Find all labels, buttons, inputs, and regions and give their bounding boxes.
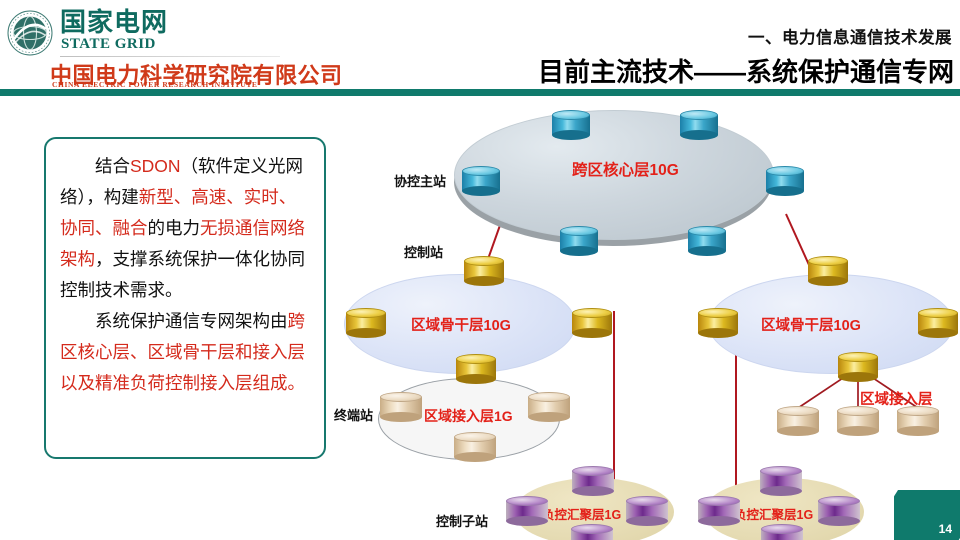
summary-paragraph-1: 结合SDON（软件定义光网络），构建新型、高速、实时、协同、融合的电力无损通信网… (60, 151, 310, 306)
station-label-zhongduan-zhan: 终端站 (334, 405, 373, 424)
agg-right-node-east[interactable] (818, 496, 860, 526)
backbone-right-node-top[interactable] (808, 256, 848, 286)
p1-seg2: SDON (130, 156, 181, 176)
access-right-node-3[interactable] (897, 406, 939, 436)
backbone-right-node-south[interactable] (838, 352, 878, 382)
summary-textbox: 结合SDON（软件定义光网络），构建新型、高速、实时、协同、融合的电力无损通信网… (44, 137, 326, 459)
access-left-label: 区域接入层1G (424, 406, 513, 426)
section-title: 一、电力信息通信技术发展 (748, 24, 952, 48)
aggregation-left-label: 负控汇聚层1G (542, 504, 621, 523)
access-right-node-2[interactable] (837, 406, 879, 436)
aggregation-right-label: 负控汇聚层1G (734, 504, 813, 523)
core-node-1[interactable] (552, 110, 590, 140)
access-right-node-1[interactable] (777, 406, 819, 436)
agg-left-node-top[interactable] (572, 466, 614, 496)
summary-paragraph-2: 系统保护通信专网架构由跨区核心层、区域骨干层和接入层以及精准负荷控制接入层组成。 (60, 306, 310, 399)
agg-right-node-top[interactable] (760, 466, 802, 496)
company-name-en: STATE GRID (61, 36, 156, 53)
agg-right-node-west[interactable] (698, 496, 740, 526)
company-name-cn: 国家电网 (60, 8, 168, 36)
page-title: 目前主流技术——系统保护通信专网 (538, 52, 954, 89)
backbone-left-node-south[interactable] (456, 354, 496, 384)
p1-seg1: 结合 (95, 156, 130, 176)
header-accent-bar (0, 89, 960, 96)
agg-left-node-south[interactable] (571, 524, 613, 540)
station-label-xiekong-zhuzhan: 协控主站 (394, 171, 446, 190)
page-number-corner: 14 (894, 490, 960, 540)
network-architecture-diagram: 跨区核心层10G 区域骨干层10G 区域骨干层10G 区域接入层1G 区域接入层… (336, 96, 960, 540)
core-node-5[interactable] (560, 226, 598, 256)
p2-seg1: 系统保护通信专网架构由 (95, 311, 288, 331)
core-layer-label: 跨区核心层10G (572, 158, 679, 180)
access-left-node-east[interactable] (528, 392, 570, 422)
access-left-node-south[interactable] (454, 432, 496, 462)
backbone-right-node-west[interactable] (698, 308, 738, 338)
station-label-kongzhi-zizhan: 控制子站 (436, 511, 488, 530)
backbone-left-label: 区域骨干层10G (411, 314, 511, 335)
header-divider (60, 56, 280, 57)
p1-seg5: 的电力 (148, 218, 201, 238)
backbone-right-node-east[interactable] (918, 308, 958, 338)
p1-seg7: ，支撑系统保护一体化协同控制技术需求。 (60, 249, 305, 300)
core-node-3[interactable] (462, 166, 500, 196)
agg-left-node-west[interactable] (506, 496, 548, 526)
core-node-2[interactable] (680, 110, 718, 140)
state-grid-globe-logo-icon (6, 9, 54, 57)
access-left-node-west[interactable] (380, 392, 422, 422)
station-label-kongzhi-zhan: 控制站 (404, 242, 443, 261)
backbone-left-node-west[interactable] (346, 308, 386, 338)
agg-left-node-east[interactable] (626, 496, 668, 526)
core-node-4[interactable] (766, 166, 804, 196)
core-node-6[interactable] (688, 226, 726, 256)
backbone-left-node-top[interactable] (464, 256, 504, 286)
agg-right-node-south[interactable] (761, 524, 803, 540)
institute-name-en: CHINA ELECTRIC POWER RESEARCH INSTITUTE (52, 80, 258, 89)
page-number: 14 (939, 522, 952, 536)
slide-root: 国家电网 STATE GRID 中国电力科学研究院有限公司 CHINA ELEC… (0, 0, 960, 540)
p2-seg3: 组成。 (253, 373, 306, 393)
backbone-right-label: 区域骨干层10G (761, 314, 861, 335)
backbone-left-node-east[interactable] (572, 308, 612, 338)
